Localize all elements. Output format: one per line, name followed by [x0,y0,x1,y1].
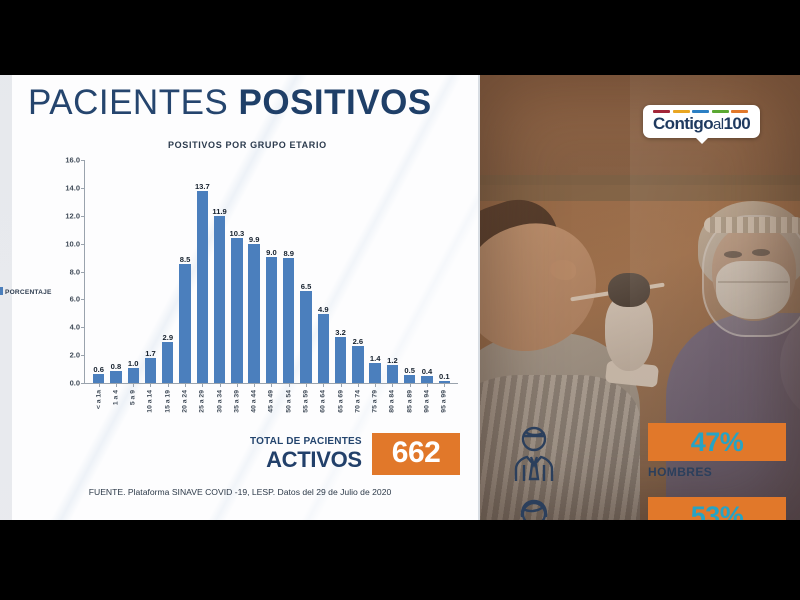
mujeres-percent: 53% [691,501,744,521]
bar-value-label: 11.9 [212,207,226,216]
logo-dash [653,110,670,113]
stat-card-mujeres: 53% MUJERES [648,497,786,520]
bar-group: 0.81 a 4 [107,160,124,383]
x-axis-tick-label: 45 a 49 [268,390,275,413]
logo-text-100: 100 [723,114,750,133]
page-title-light: PACIENTES [28,83,228,122]
x-axis-tick [185,383,186,387]
x-axis-tick-label: 70 a 74 [354,390,361,413]
x-axis-tick-label: 85 a 89 [406,390,413,413]
slide-screenshot: PACIENTES POSITIVOS POSITIVOS POR GRUPO … [0,0,800,600]
bar-value-label: 3.2 [335,328,346,337]
bar-value-label: 0.8 [111,362,122,371]
bar-group: 2.915 a 19 [159,160,176,383]
bar-value-label: 1.0 [128,359,139,368]
bar [110,371,121,383]
logo-text-al: al [713,116,723,133]
x-axis-tick-label: 10 a 14 [147,390,154,413]
x-axis-tick [306,383,307,387]
bar-value-label: 13.7 [195,182,210,191]
logo-dash [673,110,690,113]
x-axis-tick-label: 90 a 94 [423,390,430,413]
slide-content: PACIENTES POSITIVOS POSITIVOS POR GRUPO … [0,75,800,520]
bar [387,365,398,383]
bar-group: 13.725 a 29 [194,160,211,383]
hombres-percent-band: 47% [648,423,786,461]
legend-swatch-icon [0,287,3,295]
bar [231,238,242,383]
x-axis-tick-label: 15 a 19 [164,390,171,413]
y-axis-tick-label: 0.0 [70,379,80,388]
bar-value-label: 0.6 [93,365,104,374]
logo-dash [692,110,709,113]
bar [145,358,156,383]
x-axis-tick-label: 40 a 44 [251,390,258,413]
bar [283,258,294,383]
woman-icon [502,497,566,520]
x-axis-tick [392,383,393,387]
stat-card-hombres: 47% HOMBRES [648,423,786,479]
bar-value-label: 0.1 [439,372,450,381]
x-axis-tick-label: 5 a 9 [130,390,137,405]
contigo-al-100-logo: Contigoal100 [643,105,760,138]
left-edge-accent [0,75,12,520]
x-axis-tick-label: 75 a 79 [372,390,379,413]
hombres-label: HOMBRES [648,465,786,479]
source-note: FUENTE. Plataforma SINAVE COVID -19, LES… [0,487,480,497]
bar-group: 4.960 a 64 [315,160,332,383]
y-axis-tick-label: 12.0 [65,211,80,220]
x-axis-tick [254,383,255,387]
x-axis-tick [444,383,445,387]
bar-group: 2.670 a 74 [349,160,366,383]
y-axis-tick-label: 8.0 [70,267,80,276]
logo-wordmark: Contigoal100 [653,115,750,132]
logo-text-contigo: Contigo [653,114,713,133]
x-axis-tick [116,383,117,387]
mujeres-percent-band: 53% [648,497,786,520]
x-axis-tick [168,383,169,387]
bar [369,363,380,384]
bar-group: 8.520 a 24 [176,160,193,383]
bar-value-label: 9.9 [249,235,260,244]
bar [162,342,173,383]
bar-group: 10.335 a 39 [228,160,245,383]
bar-group: 6.555 a 59 [297,160,314,383]
bar-value-label: 1.7 [145,349,156,358]
x-axis-tick [220,383,221,387]
bar-group: 9.940 a 44 [246,160,263,383]
y-axis-tick-label: 6.0 [70,295,80,304]
bar-group: 1.475 a 79 [367,160,384,383]
bar [335,337,346,383]
bar-value-label: 1.4 [370,354,381,363]
bar [248,244,259,383]
bar-value-label: 4.9 [318,305,329,314]
bar-value-label: 0.5 [404,366,415,375]
x-axis-tick [358,383,359,387]
bar-series: 0.6< a 1a0.81 a 41.05 a 91.710 a 142.915… [85,160,458,383]
x-axis-tick-label: 35 a 39 [233,390,240,413]
page-title-bold: POSITIVOS [239,83,432,122]
bar-value-label: 1.2 [387,356,398,365]
bar [93,374,104,383]
bar-group: 0.585 a 89 [401,160,418,383]
chart-plot-area: 0.02.04.06.08.010.012.014.016.0 0.6< a 1… [84,160,458,384]
bar-group: 0.195 a 99 [436,160,453,383]
bar [266,257,277,383]
bar-group: 11.930 a 34 [211,160,228,383]
x-axis-tick [150,383,151,387]
x-axis-tick-label: 50 a 54 [285,390,292,413]
bar-group: 1.280 a 84 [384,160,401,383]
bar-value-label: 8.9 [283,249,294,258]
x-axis-tick-label: 80 a 84 [389,390,396,413]
y-axis-tick [81,383,85,384]
x-axis-tick-label: 1 a 4 [112,390,119,405]
total-label-line2: ACTIVOS [250,449,362,471]
logo-dash [712,110,729,113]
bar-value-label: 8.5 [180,255,191,264]
x-axis-tick-label: 65 a 69 [337,390,344,413]
chart-legend-porcentaje: PORCENTAJE [0,287,52,296]
bar-value-label: 6.5 [301,282,312,291]
x-axis-tick [323,383,324,387]
x-axis-tick [133,383,134,387]
bar [128,368,139,383]
total-active-patients: TOTAL DE PACIENTES ACTIVOS 662 [250,433,460,475]
y-axis-tick-label: 2.0 [70,351,80,360]
total-label: TOTAL DE PACIENTES ACTIVOS [250,437,362,471]
bar [352,346,363,383]
x-axis-tick [271,383,272,387]
y-axis-tick-label: 14.0 [65,183,80,192]
x-axis-tick [289,383,290,387]
x-axis-tick-label: 60 a 64 [320,390,327,413]
y-axis-tick-label: 16.0 [65,156,80,165]
bar-value-label: 2.9 [162,333,173,342]
x-axis-tick-label: < a 1a [95,390,102,409]
x-axis-tick-label: 55 a 59 [303,390,310,413]
bar-value-label: 0.4 [422,367,433,376]
right-panel: Contigoal100 47% HOMBRES [480,75,800,520]
bar [197,191,208,383]
y-axis-tick-label: 4.0 [70,323,80,332]
x-axis-tick-label: 95 a 99 [441,390,448,413]
x-axis-tick-label: 20 a 24 [182,390,189,413]
x-axis-tick [99,383,100,387]
bar-group: 8.950 a 54 [280,160,297,383]
bar-value-label: 9.0 [266,248,277,257]
page-title: PACIENTES POSITIVOS [28,85,432,120]
logo-dashes [653,110,750,113]
x-axis-tick [237,383,238,387]
total-label-line1: TOTAL DE PACIENTES [250,437,362,447]
bar-value-label: 10.3 [230,229,245,238]
x-axis-tick [375,383,376,387]
bar [179,264,190,383]
hombres-percent: 47% [691,427,744,458]
x-axis-tick [202,383,203,387]
x-axis-tick [410,383,411,387]
age-group-bar-chart: PORCENTAJE 0.02.04.06.08.010.012.014.016… [34,155,464,430]
legend-label: PORCENTAJE [5,289,52,296]
left-panel: PACIENTES POSITIVOS POSITIVOS POR GRUPO … [0,75,480,520]
y-axis-tick-label: 10.0 [65,239,80,248]
bar-group: 9.045 a 49 [263,160,280,383]
bar-group: 0.6< a 1a [90,160,107,383]
man-icon [502,423,566,487]
x-axis-tick [341,383,342,387]
bar-group: 1.710 a 14 [142,160,159,383]
x-axis-tick [427,383,428,387]
x-axis-tick-label: 30 a 34 [216,390,223,413]
bar-group: 3.265 a 69 [332,160,349,383]
total-value-badge: 662 [372,433,461,475]
bar [214,216,225,383]
x-axis-tick-label: 25 a 29 [199,390,206,413]
chart-subtitle: POSITIVOS POR GRUPO ETARIO [168,140,327,150]
bar-group: 0.490 a 94 [418,160,435,383]
bar-value-label: 2.6 [353,337,364,346]
logo-dash [731,110,748,113]
bar [300,291,311,383]
bar [404,375,415,383]
bar [318,314,329,383]
bar-group: 1.05 a 9 [125,160,142,383]
